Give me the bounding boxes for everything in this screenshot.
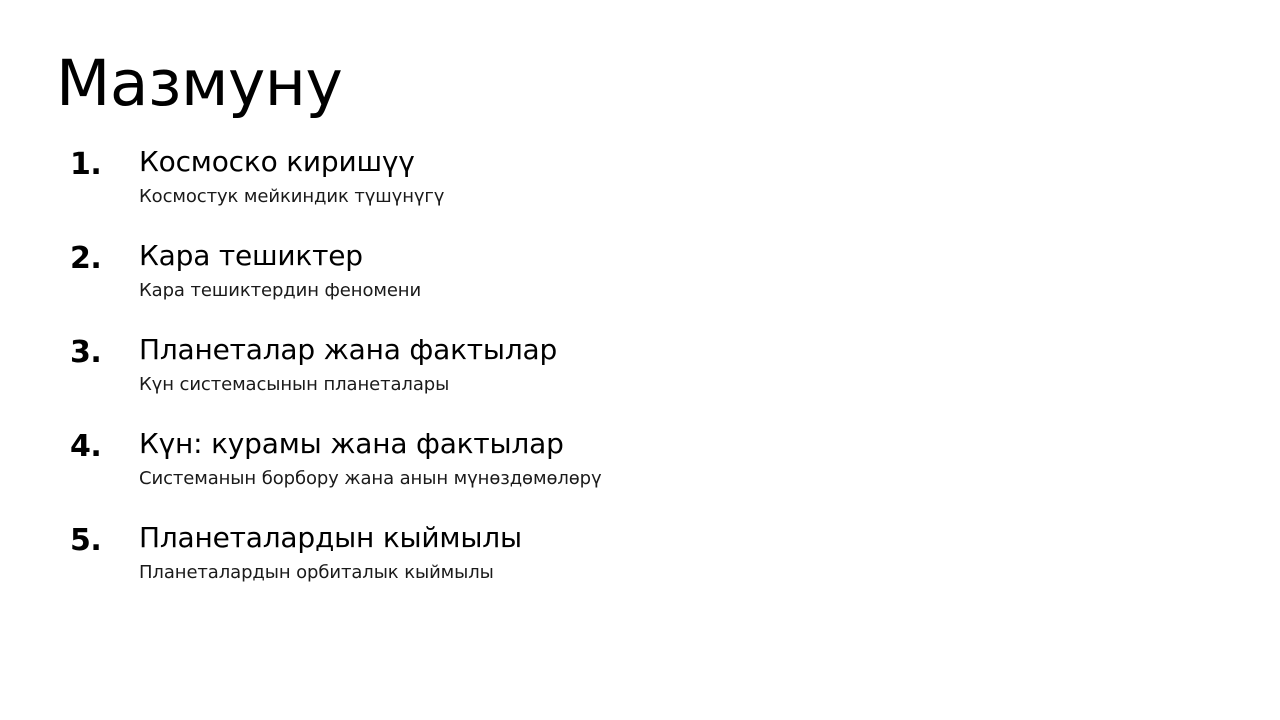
page-title: Мазмуну (56, 52, 342, 115)
list-item[interactable]: 3. Планеталар жана фактылар Күн системас… (70, 333, 1210, 405)
list-item[interactable]: 5. Планеталардын кыймылы Планеталардын о… (70, 521, 1210, 593)
list-item[interactable]: 2. Кара тешиктер Кара тешиктердин феноме… (70, 239, 1210, 311)
list-item-subtitle: Планеталардын орбиталык кыймылы (139, 561, 1210, 585)
list-item-body: Кара тешиктер Кара тешиктердин феномени (139, 239, 1210, 303)
list-item-heading: Күн: курамы жана фактылар (139, 427, 1210, 461)
list-item-number: 4. (70, 427, 139, 467)
table-of-contents-list: 1. Космоско киришүү Космостук мейкиндик … (70, 145, 1210, 593)
list-item-number: 2. (70, 239, 139, 279)
list-item-number: 3. (70, 333, 139, 373)
list-item-number: 5. (70, 521, 139, 561)
list-item-heading: Планеталардын кыймылы (139, 521, 1210, 555)
list-item-body: Планеталардын кыймылы Планеталардын орби… (139, 521, 1210, 585)
list-item-subtitle: Күн системасынын планеталары (139, 373, 1210, 397)
list-item-subtitle: Кара тешиктердин феномени (139, 279, 1210, 303)
list-item-body: Планеталар жана фактылар Күн системасыны… (139, 333, 1210, 397)
list-item-body: Күн: курамы жана фактылар Системанын бор… (139, 427, 1210, 491)
presentation-slide: Мазмуну 1. Космоско киришүү Космостук ме… (0, 0, 1280, 720)
list-item-heading: Планеталар жана фактылар (139, 333, 1210, 367)
list-item-subtitle: Космостук мейкиндик түшүнүгү (139, 185, 1210, 209)
list-item[interactable]: 1. Космоско киришүү Космостук мейкиндик … (70, 145, 1210, 217)
list-item-body: Космоско киришүү Космостук мейкиндик түш… (139, 145, 1210, 209)
list-item-subtitle: Системанын борбору жана анын мүнөздөмөлө… (139, 467, 1210, 491)
list-item-heading: Космоско киришүү (139, 145, 1210, 179)
list-item-heading: Кара тешиктер (139, 239, 1210, 273)
list-item-number: 1. (70, 145, 139, 185)
list-item[interactable]: 4. Күн: курамы жана фактылар Системанын … (70, 427, 1210, 499)
